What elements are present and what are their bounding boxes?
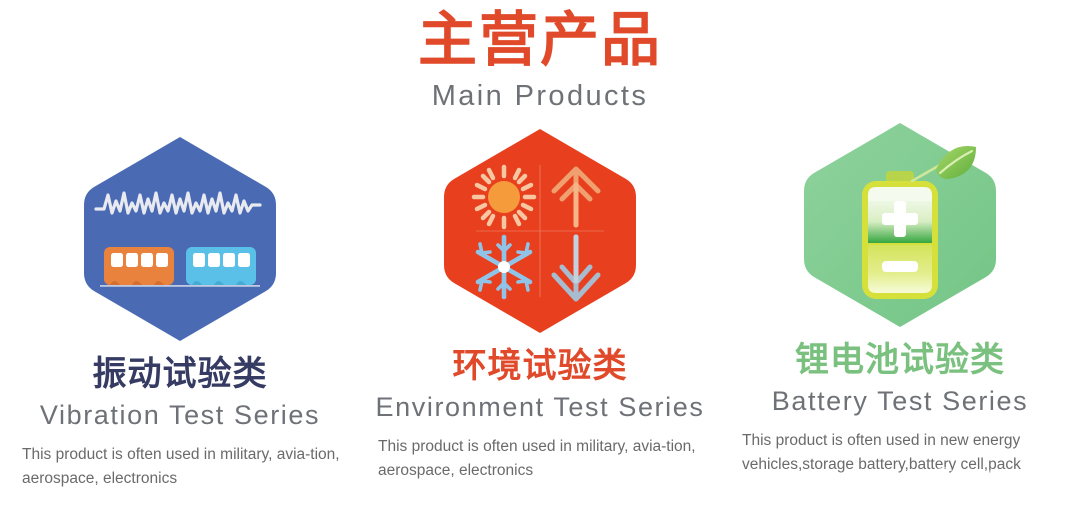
environment-hexagon-icon <box>440 125 640 337</box>
vibration-hexagon-icon <box>80 133 280 345</box>
battery-hexagon-icon <box>800 119 1000 331</box>
product-card-vibration[interactable]: 振动试验类 Vibration Test Series This product… <box>0 133 360 491</box>
vibration-description: This product is often used in military, … <box>0 443 360 491</box>
battery-description: This product is often used in new energy… <box>720 429 1080 477</box>
environment-title-en: Environment Test Series <box>360 390 720 425</box>
product-card-battery[interactable]: 锂电池试验类 Battery Test Series This product … <box>720 119 1080 491</box>
environment-title-cn: 环境试验类 <box>360 345 720 388</box>
page-title-cn: 主营产品 <box>0 6 1080 76</box>
vibration-icon-wrap <box>0 133 360 345</box>
battery-title-cn: 锂电池试验类 <box>720 339 1080 382</box>
page-header: 主营产品 Main Products <box>0 0 1080 115</box>
vibration-title-cn: 振动试验类 <box>0 353 360 396</box>
battery-icon-wrap <box>720 119 1080 331</box>
page-title-en: Main Products <box>0 78 1080 116</box>
product-card-environment[interactable]: 环境试验类 Environment Test Series This produ… <box>360 125 720 491</box>
environment-icon-wrap <box>360 125 720 337</box>
vibration-title-en: Vibration Test Series <box>0 398 360 433</box>
product-columns: 振动试验类 Vibration Test Series This product… <box>0 133 1080 491</box>
battery-title-en: Battery Test Series <box>720 384 1080 419</box>
environment-description: This product is often used in military, … <box>360 435 720 483</box>
